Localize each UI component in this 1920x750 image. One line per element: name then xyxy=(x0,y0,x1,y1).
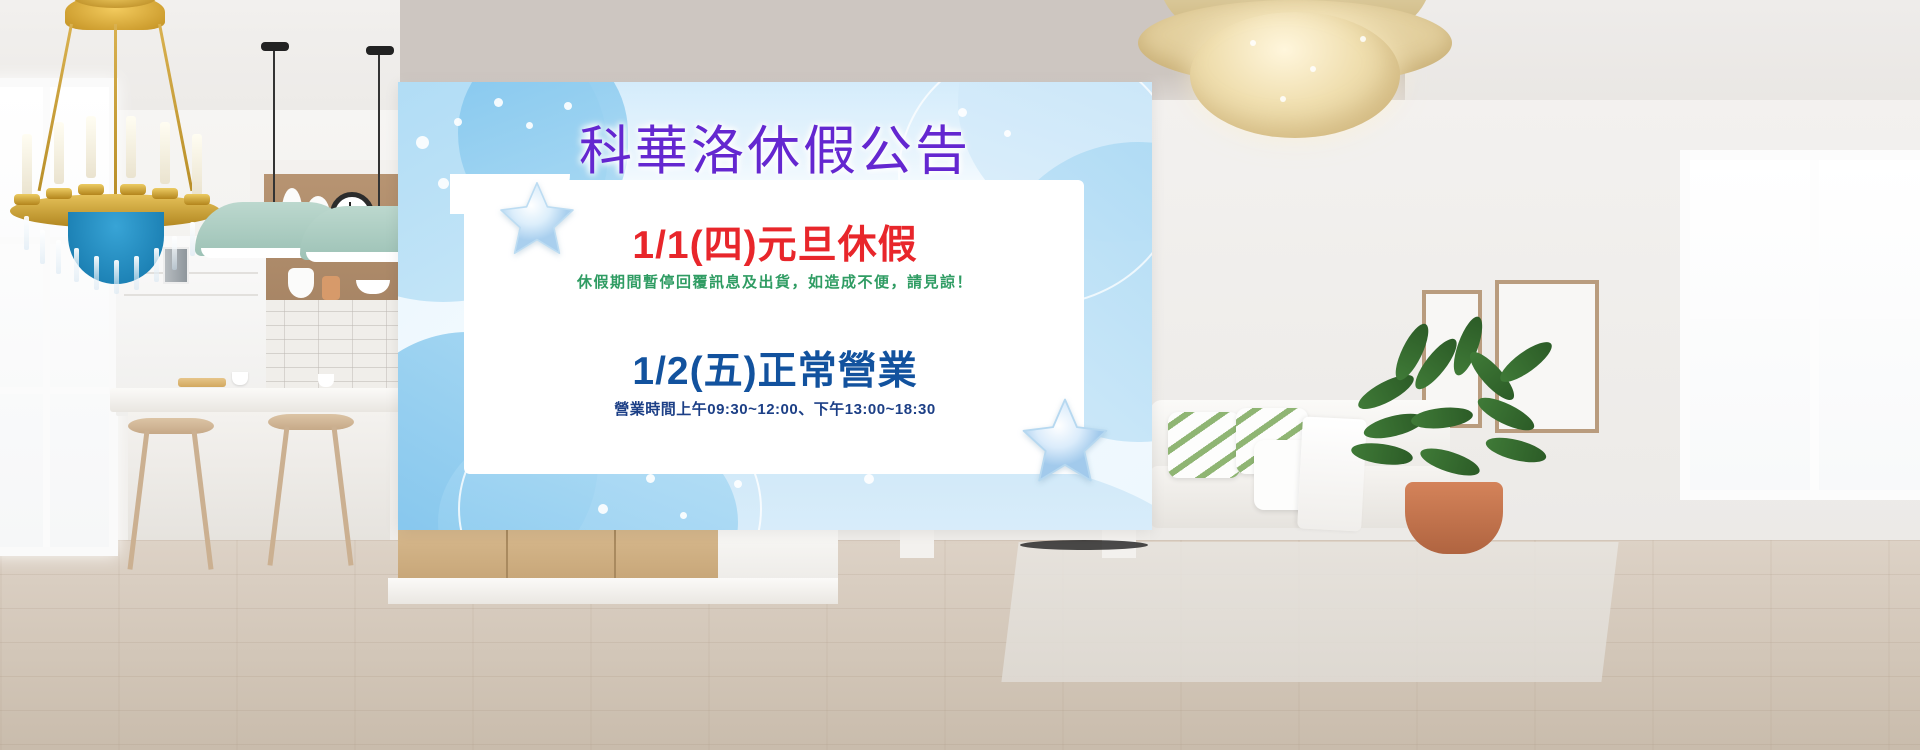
closure-headline: 1/1(四)元旦休假 xyxy=(398,214,1152,270)
coffee-cup xyxy=(232,372,248,385)
bubble-dot xyxy=(864,474,874,484)
copper-vase xyxy=(322,276,340,300)
wood-floor xyxy=(0,540,1920,750)
tv-foot xyxy=(900,530,934,558)
open-headline: 1/2(五)正常營業 xyxy=(398,340,1152,396)
screenshot-stage: 科華洛休假公告 1/1(四)元旦休假 休假期間暫停回覆訊息及出貨，如造成不便，請… xyxy=(0,0,1920,750)
bubble-dot xyxy=(734,480,742,488)
business-hours: 營業時間上午09:30~12:00、下午13:00~18:30 xyxy=(398,398,1152,419)
kitchen-countertop xyxy=(110,388,405,412)
decor-object xyxy=(288,268,314,298)
potted-plant-icon xyxy=(1345,312,1565,502)
tv-stand-shadow xyxy=(1020,540,1148,550)
banner-title: 科華洛休假公告 xyxy=(398,109,1152,185)
bubble-dot xyxy=(816,450,831,465)
crystal-ceiling-lamp-icon xyxy=(1130,0,1460,145)
bubble-dot xyxy=(580,460,592,472)
bar-stool xyxy=(268,414,354,564)
bubble-dot xyxy=(694,456,708,470)
bubble-dot xyxy=(478,194,485,201)
area-rug xyxy=(1001,542,1618,682)
crystal-chandelier-icon xyxy=(10,0,220,294)
window-right xyxy=(1680,150,1920,500)
closure-note: 休假期間暫停回覆訊息及出貨，如造成不便，請見諒！ xyxy=(398,271,1152,292)
bubble-dot xyxy=(646,474,655,483)
bubble-dot xyxy=(598,504,608,514)
tv-cabinet-base xyxy=(388,578,838,604)
cutting-board xyxy=(178,378,226,387)
coffee-cup xyxy=(318,374,334,387)
holiday-notice-banner: 科華洛休假公告 1/1(四)元旦休假 休假期間暫停回覆訊息及出貨，如造成不便，請… xyxy=(398,82,1152,530)
bar-stool xyxy=(128,418,214,568)
bubble-dot xyxy=(494,98,503,107)
bubble-dot xyxy=(680,512,687,519)
bubble-dot xyxy=(910,458,918,466)
throw-pillow xyxy=(1168,412,1240,478)
